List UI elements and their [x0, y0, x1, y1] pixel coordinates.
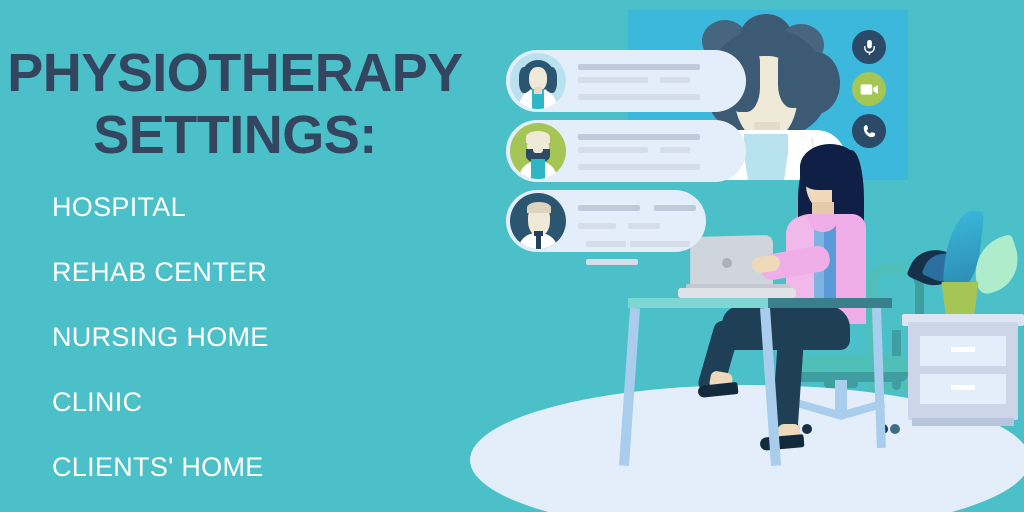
page-title-line-2: SETTINGS:	[0, 104, 470, 166]
cabinet-drawer-handle	[951, 385, 975, 390]
desk-top-shadow	[768, 298, 892, 308]
contact-card[interactable]	[506, 190, 706, 252]
doctor-shirt	[744, 134, 788, 180]
contact-card[interactable]	[506, 120, 746, 182]
text-panel: PHYSIOTHERAPY SETTINGS: HOSPITAL REHAB C…	[0, 0, 470, 512]
page-title: PHYSIOTHERAPY SETTINGS:	[0, 42, 470, 166]
microphone-icon	[862, 39, 877, 56]
contact-card-text-lines	[578, 134, 700, 176]
video-camera-icon	[860, 83, 879, 96]
microphone-button[interactable]	[852, 30, 886, 64]
settings-list-item-clinic: CLINIC	[52, 387, 452, 417]
contact-card[interactable]	[506, 50, 746, 112]
laptop-base	[678, 288, 796, 298]
telehealth-illustration	[460, 0, 1024, 512]
settings-list-item-rehab-center: REHAB CENTER	[52, 257, 452, 287]
cabinet-drawer-handle	[951, 347, 975, 352]
contact-card-text-lines	[578, 64, 700, 106]
settings-list-item-nursing-home: NURSING HOME	[52, 322, 452, 352]
settings-list-item-hospital: HOSPITAL	[52, 192, 452, 222]
video-camera-button[interactable]	[852, 72, 886, 106]
settings-list: HOSPITAL REHAB CENTER NURSING HOME CLINI…	[52, 192, 452, 512]
bearded-doctor-avatar	[510, 123, 566, 179]
chair-caster	[802, 424, 812, 434]
settings-list-item-clients-home: CLIENTS' HOME	[52, 452, 452, 482]
contact-card-text-lines	[578, 204, 706, 276]
phone-button[interactable]	[852, 114, 886, 148]
poster-canvas: PHYSIOTHERAPY SETTINGS: HOSPITAL REHAB C…	[0, 0, 1024, 512]
senior-doctor-avatar	[510, 193, 566, 249]
phone-icon	[862, 124, 877, 139]
cabinet-base	[912, 418, 1014, 426]
female-doctor-avatar	[510, 53, 566, 109]
laptop-logo-icon	[722, 258, 732, 268]
chair-caster	[890, 424, 900, 434]
page-title-line-1: PHYSIOTHERAPY	[0, 42, 470, 104]
